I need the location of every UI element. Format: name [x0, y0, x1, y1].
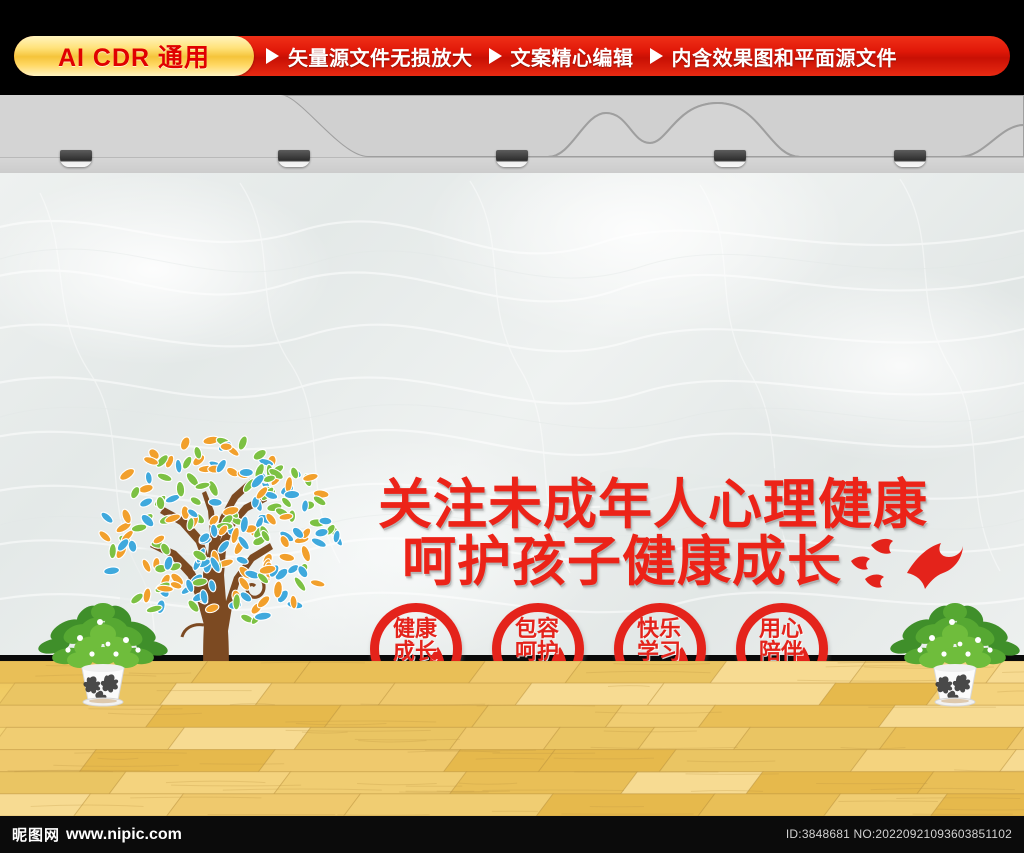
badge-line-1: 包容: [500, 619, 574, 642]
promo-feature-label: 内含效果图和平面源文件: [672, 42, 898, 71]
badge-line-1: 用心: [744, 619, 818, 642]
promo-feature-list: 矢量源文件无损放大 文案精心编辑 内含效果图和平面源文件: [266, 36, 998, 76]
screenshot-root: AI CDR 通用 矢量源文件无损放大 文案精心编辑 内含效果图和平面源文件: [0, 0, 1024, 853]
format-badge: AI CDR 通用: [14, 36, 254, 76]
badge-text: 健康 成长: [378, 619, 452, 665]
badge-text: 包容 呵护: [500, 619, 574, 665]
ceiling-spotlight: [894, 150, 926, 167]
promo-feature-item: 内含效果图和平面源文件: [650, 42, 898, 71]
play-triangle-icon: [650, 48, 663, 64]
badge-line-1: 快乐: [622, 619, 696, 642]
promo-banner: AI CDR 通用 矢量源文件无损放大 文案精心编辑 内含效果图和平面源文件: [0, 0, 1024, 95]
title-line-2: 呵护孩子健康成长: [402, 534, 808, 589]
format-badge-label: AI CDR 通用: [58, 38, 210, 74]
promo-bar: AI CDR 通用 矢量源文件无损放大 文案精心编辑 内含效果图和平面源文件: [14, 36, 1010, 76]
promo-feature-label: 矢量源文件无损放大: [288, 42, 473, 71]
wall-title: 关注未成年人心理健康 呵护孩子健康成长: [378, 477, 808, 589]
title-line-1: 关注未成年人心理健康: [378, 477, 808, 532]
ceiling-spotlight: [496, 150, 528, 167]
promo-feature-item: 矢量源文件无损放大: [266, 42, 473, 71]
footer-watermark-bar: 昵图网 www.nipic.com ID:3848681 NO:20220921…: [0, 816, 1024, 853]
play-triangle-icon: [489, 48, 502, 64]
marble-wall: 关注未成年人心理健康 呵护孩子健康成长: [0, 173, 1024, 655]
ceiling-spotlight: [60, 150, 92, 167]
badge-text: 快乐 学习: [622, 619, 696, 665]
promo-feature-item: 文案精心编辑: [489, 42, 634, 71]
site-logo: 昵图网 www.nipic.com: [12, 824, 182, 845]
plant-foliage: [889, 602, 1021, 674]
ceiling-spotlight: [278, 150, 310, 167]
flying-birds: [845, 535, 965, 590]
promo-feature-label: 文案精心编辑: [511, 42, 634, 71]
potted-plant-right: [880, 598, 1024, 708]
site-logo-cn: 昵图网: [12, 824, 60, 845]
badge-line-1: 健康: [378, 619, 452, 642]
plant-pot: [82, 664, 124, 706]
image-id-text: ID:3848681 NO:20220921093603851102: [786, 827, 1012, 841]
plant-pot: [934, 664, 976, 706]
potted-plant-left: [28, 598, 178, 708]
ceiling-spotlight: [714, 150, 746, 167]
ceiling-soffit-shape: [0, 95, 1024, 157]
plant-foliage: [37, 602, 169, 674]
badge-text: 用心 陪伴: [744, 619, 818, 665]
site-url: www.nipic.com: [66, 826, 182, 844]
play-triangle-icon: [266, 48, 279, 64]
